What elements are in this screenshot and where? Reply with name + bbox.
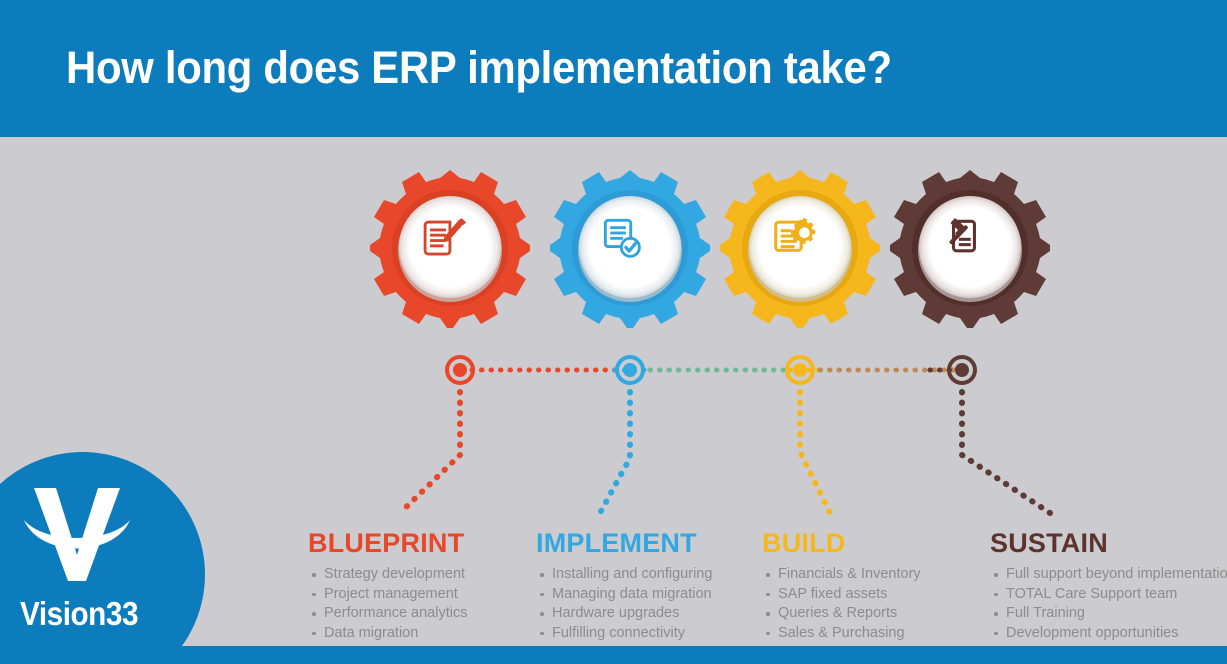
gear-inner-circle-sustain	[919, 196, 1021, 298]
header-bar: How long does ERP implementation take?	[0, 0, 1227, 137]
stage-title-build: BUILD	[762, 528, 921, 559]
list-item: Fulfilling connectivity	[536, 624, 712, 644]
list-item: Development opportunities	[990, 624, 1227, 644]
stage-block-build: BUILD Financials & Inventory SAP fixed a…	[762, 528, 921, 643]
list-item: TOTAL Care Support team	[990, 585, 1227, 605]
list-item: Full Training	[990, 604, 1227, 624]
stage-title-sustain: SUSTAIN	[990, 528, 1227, 559]
stage-list-implement: Installing and configuring Managing data…	[536, 565, 712, 643]
page-title: How long does ERP implementation take?	[66, 40, 1089, 96]
list-item: Project management	[308, 585, 467, 605]
gear-build	[720, 168, 880, 328]
gear-sustain	[890, 168, 1050, 328]
stage-title-implement: IMPLEMENT	[536, 528, 712, 559]
gear-implement	[550, 168, 710, 328]
stage-list-build: Financials & Inventory SAP fixed assets …	[762, 565, 921, 643]
list-item: Queries & Reports	[762, 604, 921, 624]
list-item: Strategy development	[308, 565, 467, 585]
stage-title-blueprint: BLUEPRINT	[308, 528, 467, 559]
logo-name: Vision	[20, 595, 106, 632]
stage-block-sustain: SUSTAIN Full support beyond implementati…	[990, 528, 1227, 643]
list-item: Hardware upgrades	[536, 604, 712, 624]
v-swoosh-logo-mark	[22, 482, 132, 587]
stage-block-blueprint: BLUEPRINT Strategy development Project m…	[308, 528, 467, 643]
list-item: Managing data migration	[536, 585, 712, 605]
infographic-canvas: How long does ERP implementation take?	[0, 0, 1227, 664]
list-item: Installing and configuring	[536, 565, 712, 585]
stage-block-implement: IMPLEMENT Installing and configuring Man…	[536, 528, 712, 643]
list-item: Full support beyond implementation	[990, 565, 1227, 585]
list-item: SAP fixed assets	[762, 585, 921, 605]
stage-list-sustain: Full support beyond implementation TOTAL…	[990, 565, 1227, 643]
list-item: Sales & Purchasing	[762, 624, 921, 644]
logo-wordmark: Vision33	[20, 595, 138, 633]
brand-logo[interactable]: Vision33	[0, 452, 205, 664]
gear-blueprint	[370, 168, 530, 328]
list-item: Financials & Inventory	[762, 565, 921, 585]
logo-number: 33	[106, 595, 138, 632]
list-item: Performance analytics	[308, 604, 467, 624]
stage-list-blueprint: Strategy development Project management …	[308, 565, 467, 643]
list-item: Data migration	[308, 624, 467, 644]
